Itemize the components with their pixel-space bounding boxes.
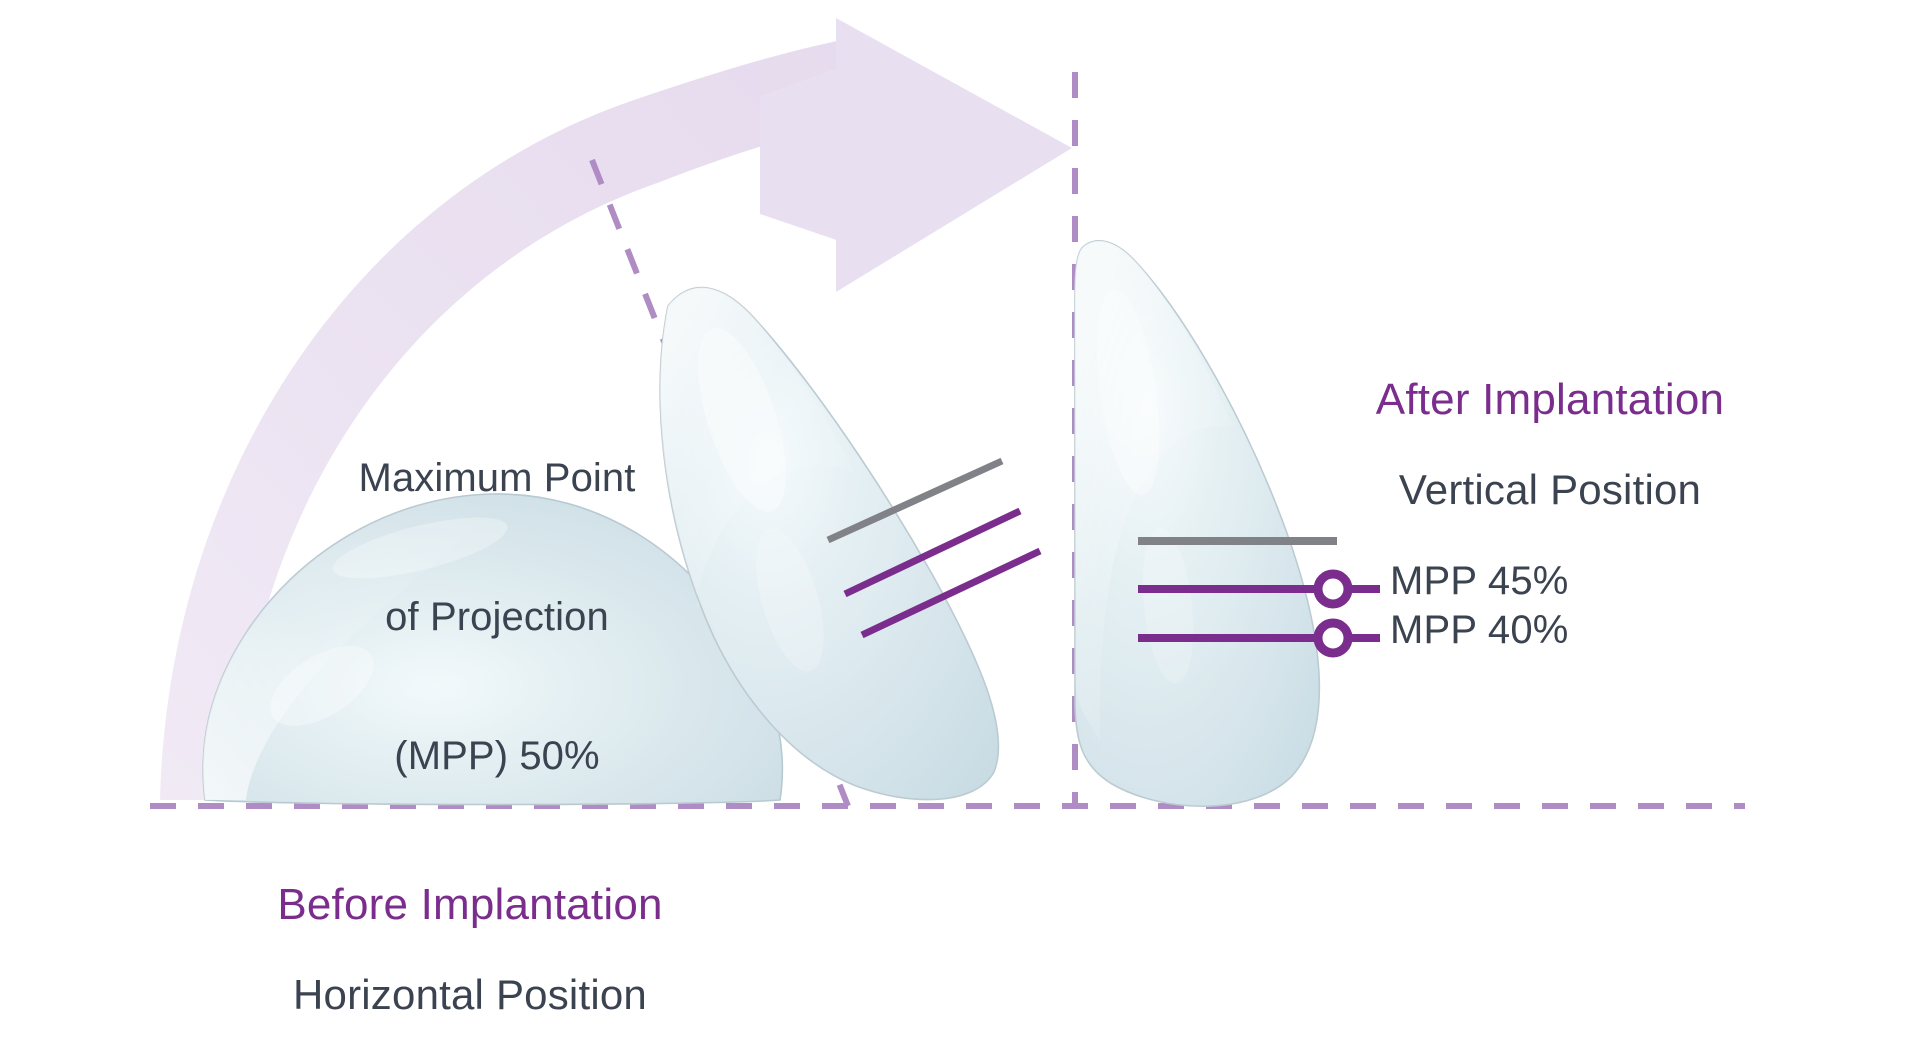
implant-projection-diagram: Maximum Point of Projection (MPP) 50% Af… [0, 0, 1920, 987]
mpp40-circle-marker-icon [1318, 623, 1348, 653]
after-implantation-block: After Implantation Vertical Position [1290, 337, 1810, 552]
before-implantation-block: Before Implantation Horizontal Position [180, 842, 760, 1057]
arrow-head-icon [836, 18, 1072, 292]
after-implantation-title: After Implantation [1290, 374, 1810, 425]
mpp-callout-line-2: of Projection [322, 594, 672, 640]
mpp-callout-line-3: (MPP) 50% [322, 733, 672, 779]
after-implantation-subtitle: Vertical Position [1290, 466, 1810, 515]
mpp-callout-line-1: Maximum Point [322, 455, 672, 501]
before-implantation-subtitle: Horizontal Position [180, 971, 760, 1020]
vertical-teardrop-implant [1075, 241, 1319, 806]
mpp45-circle-marker-icon [1318, 574, 1348, 604]
legend-label-mpp-40: MPP 40% [1390, 607, 1569, 653]
legend-label-mpp-45: MPP 45% [1390, 558, 1569, 604]
before-implantation-title: Before Implantation [180, 879, 760, 930]
mpp-callout-text: Maximum Point of Projection (MPP) 50% [322, 362, 672, 872]
